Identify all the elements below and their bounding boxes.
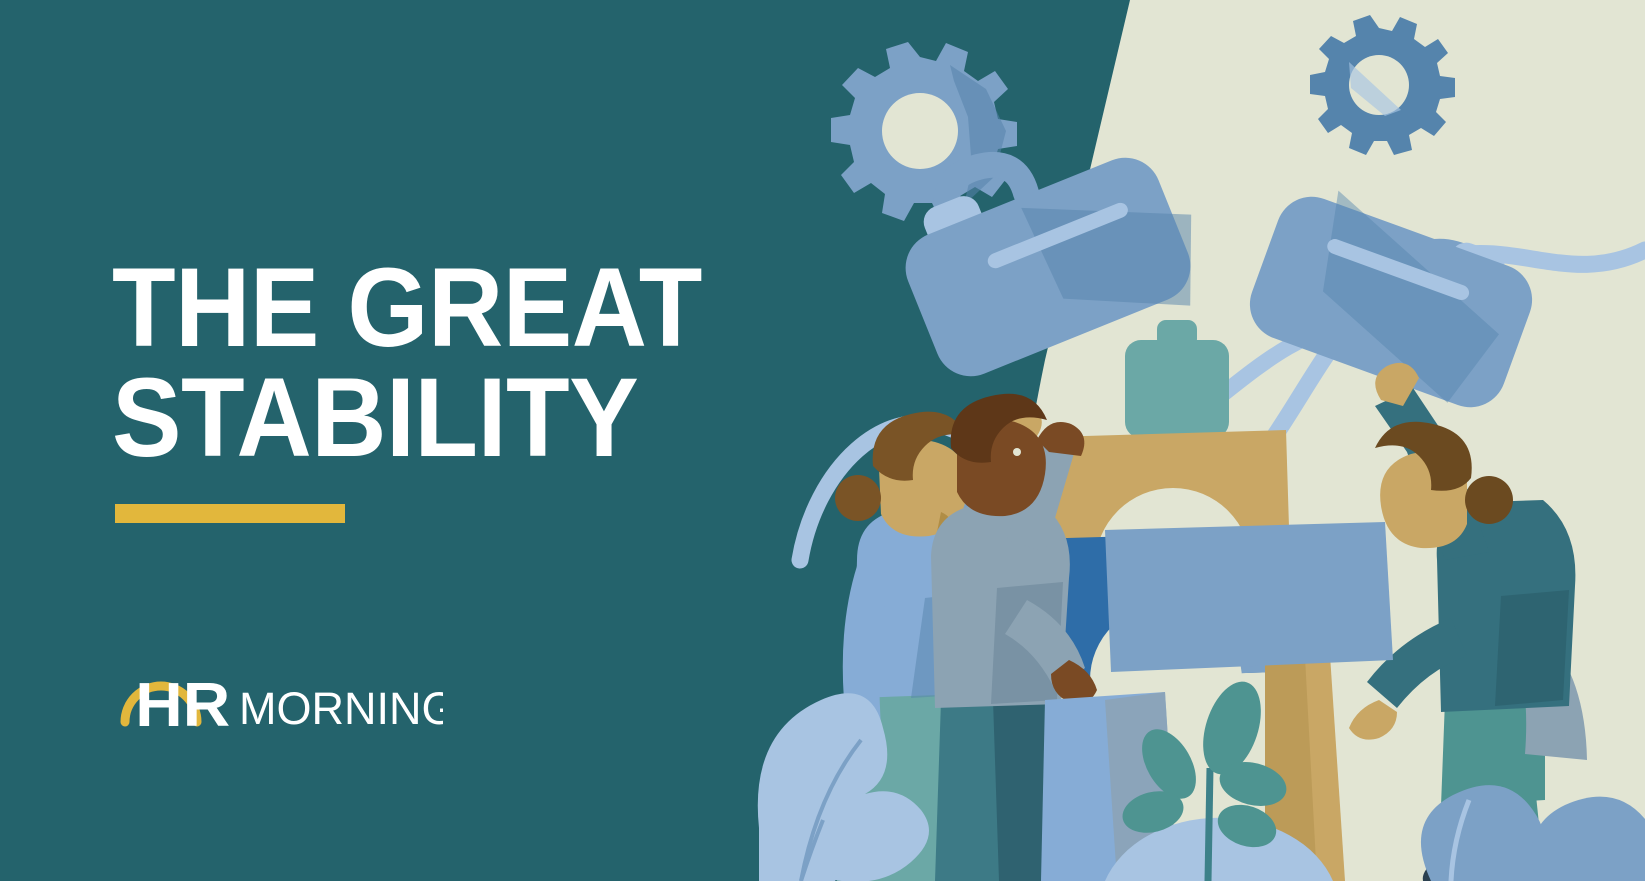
box-blue-right xyxy=(1105,522,1393,672)
gold-divider xyxy=(115,504,345,523)
hrmorning-logo[interactable]: HR MORNING xyxy=(113,648,443,728)
illustration-panel xyxy=(745,0,1645,881)
logo-svg: HR MORNING xyxy=(113,648,443,728)
logo-word-text: MORNING xyxy=(239,683,443,728)
logo-mark-text: HR xyxy=(135,670,230,728)
headline-line-2: STABILITY xyxy=(112,363,819,473)
page-title: THE GREAT STABILITY xyxy=(112,253,819,473)
illustration-svg xyxy=(745,0,1645,881)
banner-canvas: THE GREAT STABILITY HR MORNING xyxy=(0,0,1645,881)
headline-line-1: THE GREAT xyxy=(112,253,819,363)
gear-large-icon xyxy=(831,42,1017,221)
